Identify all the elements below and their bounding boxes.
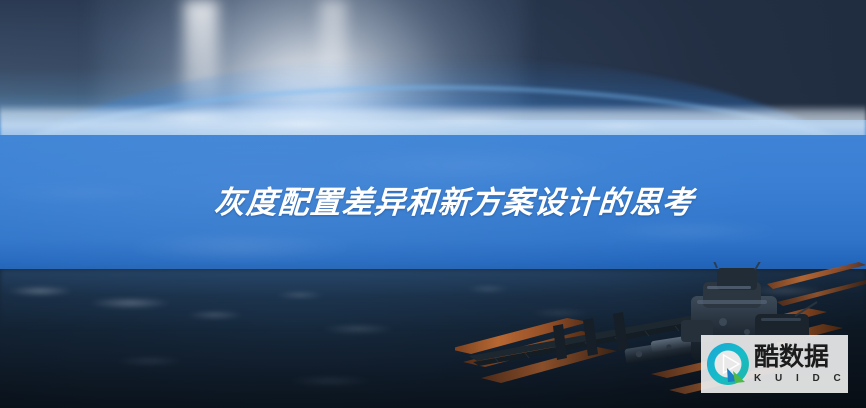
watermark-name-en: K U I D C xyxy=(754,374,846,384)
page-title: 灰度配置差异和新方案设计的思考 xyxy=(0,187,695,218)
play-circle-icon xyxy=(705,341,751,387)
title-band: 灰度配置差异和新方案设计的思考 xyxy=(0,135,866,269)
watermark-logo: 酷数据 K U I D C xyxy=(701,335,848,393)
earth-horizon-haze xyxy=(0,269,866,329)
watermark-text: 酷数据 K U I D C xyxy=(754,345,846,384)
hero-banner: 灰度配置差异和新方案设计的思考 xyxy=(0,0,866,408)
upper-cloud-texture xyxy=(0,104,866,138)
watermark-name-cn: 酷数据 xyxy=(754,345,846,370)
